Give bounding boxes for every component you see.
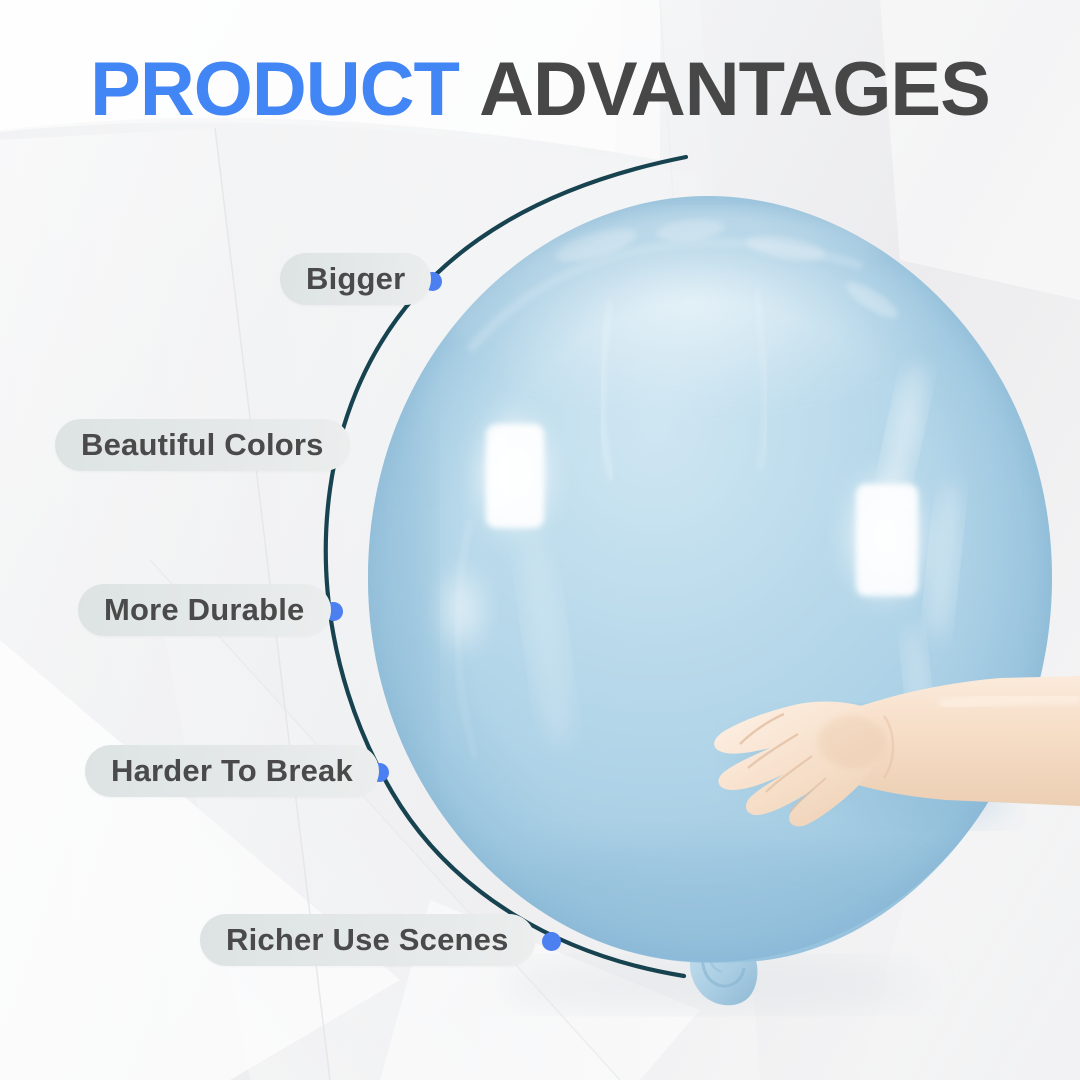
advantage-label-break-text: Harder To Break (111, 753, 353, 789)
advantage-label-bigger-text: Bigger (306, 261, 405, 297)
infographic-canvas: PRODUCT ADVANTAGES Bigger Beautiful Colo… (0, 0, 1080, 1080)
advantage-label-scenes[interactable]: Richer Use Scenes (200, 914, 535, 966)
advantage-label-bigger[interactable]: Bigger (280, 253, 431, 305)
advantage-label-durable-text: More Durable (104, 592, 305, 628)
advantage-label-colors-text: Beautiful Colors (81, 427, 324, 463)
advantages-connector-layer (0, 0, 1080, 1080)
advantage-label-durable[interactable]: More Durable (78, 584, 331, 636)
advantage-label-scenes-text: Richer Use Scenes (226, 922, 509, 958)
connector-arc (0, 0, 1080, 1080)
connector-dot-scenes (542, 932, 561, 951)
advantage-label-colors[interactable]: Beautiful Colors (55, 419, 350, 471)
advantage-label-break[interactable]: Harder To Break (85, 745, 379, 797)
